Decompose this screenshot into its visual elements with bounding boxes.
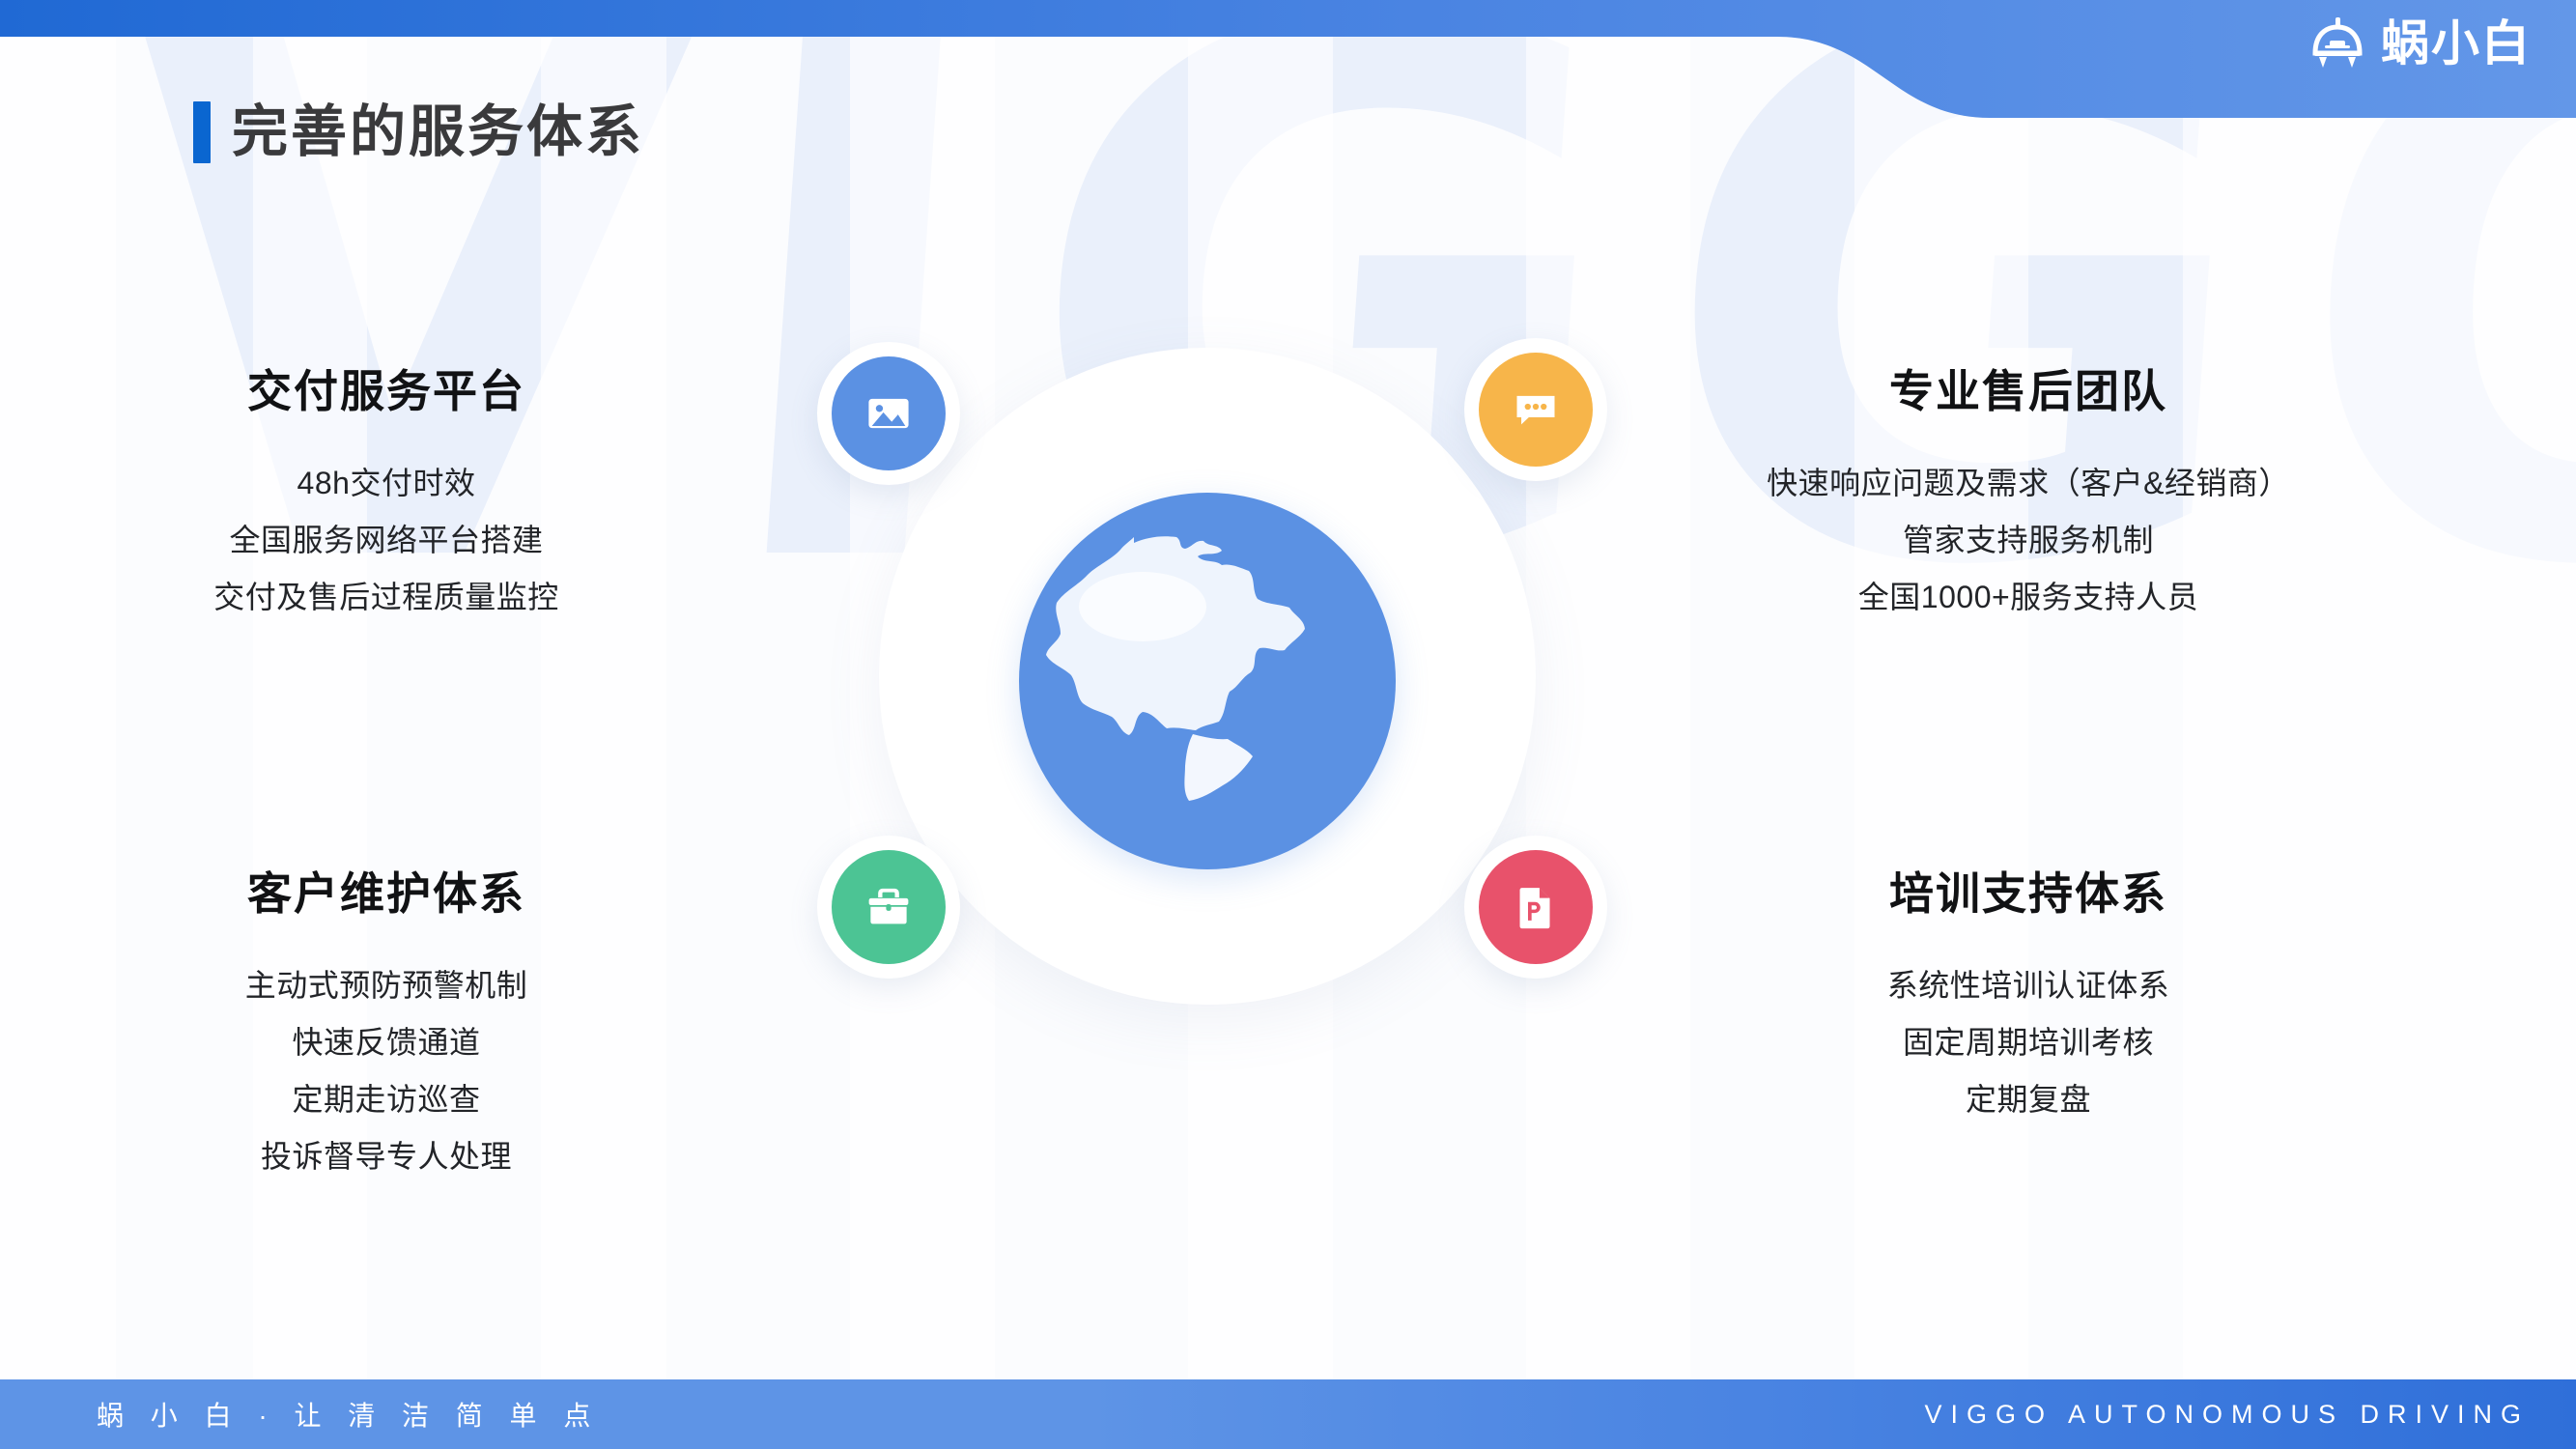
block-line: 投诉督导专人处理: [0, 1128, 773, 1185]
block-line: 交付及售后过程质量监控: [0, 569, 773, 626]
block-line: 48h交付时效: [0, 455, 773, 512]
text-block-professional-after-sales-team: 专业售后团队 快速响应问题及需求（客户&经销商） 管家支持服务机制 全国1000…: [1642, 367, 2415, 626]
footer-tagline: VIGGO AUTONOMOUS DRIVING: [1924, 1400, 2530, 1430]
footer-slogan: 蜗 小 白 · 让 清 洁 简 单 点: [97, 1395, 600, 1434]
icon-disc: [832, 356, 946, 470]
block-line: 全国服务网络平台搭建: [0, 512, 773, 569]
footer-bar: 蜗 小 白 · 让 清 洁 简 单 点 VIGGO AUTONOMOUS DRI…: [0, 1379, 2576, 1449]
block-heading: 客户维护体系: [0, 869, 773, 919]
text-block-training-support-system: 培训支持体系 系统性培训认证体系 固定周期培训考核 定期复盘: [1642, 869, 2415, 1128]
block-line: 全国1000+服务支持人员: [1642, 569, 2415, 626]
veil-stripe: [2183, 0, 2576, 1381]
page-title: 完善的服务体系: [193, 101, 644, 163]
page-title-text: 完善的服务体系: [232, 104, 644, 160]
block-line: 快速反馈通道: [0, 1014, 773, 1071]
block-line: 主动式预防预警机制: [0, 957, 773, 1014]
toolbox-icon: [863, 882, 914, 932]
text-block-customer-maintenance-system: 客户维护体系 主动式预防预警机制 快速反馈通道 定期走访巡查 投诉督导专人处理: [0, 869, 773, 1185]
icon-bubble-after-sales[interactable]: [1464, 338, 1607, 481]
icon-disc: [1479, 850, 1593, 964]
globe-americas-icon: [1019, 493, 1396, 869]
block-line: 快速响应问题及需求（客户&经销商）: [1642, 455, 2415, 512]
title-accent-bar: [193, 101, 211, 163]
block-line: 固定周期培训考核: [1642, 1014, 2415, 1071]
block-heading: 专业售后团队: [1642, 367, 2415, 416]
icon-disc: [832, 850, 946, 964]
logo-wordmark: 蜗小白: [2381, 19, 2532, 68]
chat-bubble-icon: [1511, 384, 1561, 435]
icon-disc: [1479, 353, 1593, 467]
icon-bubble-maintenance[interactable]: [817, 836, 960, 979]
block-line: 定期复盘: [1642, 1071, 2415, 1128]
block-line: 管家支持服务机制: [1642, 512, 2415, 569]
image-picture-icon: [863, 388, 914, 439]
icon-bubble-training[interactable]: [1464, 836, 1607, 979]
document-p-icon: [1511, 882, 1561, 932]
center-graphic: [831, 328, 1584, 1082]
snail-robot-icon: [2307, 16, 2367, 71]
icon-bubble-delivery[interactable]: [817, 342, 960, 485]
block-line: 系统性培训认证体系: [1642, 957, 2415, 1014]
block-heading: 交付服务平台: [0, 367, 773, 416]
text-block-delivery-service-platform: 交付服务平台 48h交付时效 全国服务网络平台搭建 交付及售后过程质量监控: [0, 367, 773, 626]
block-line: 定期走访巡查: [0, 1071, 773, 1128]
block-heading: 培训支持体系: [1642, 869, 2415, 919]
slide-root: VIGGO: [0, 0, 2576, 1449]
veil-stripe: [1854, 0, 2028, 1381]
globe-circle: [1019, 493, 1396, 869]
brand-logo: 蜗小白: [2307, 14, 2532, 73]
